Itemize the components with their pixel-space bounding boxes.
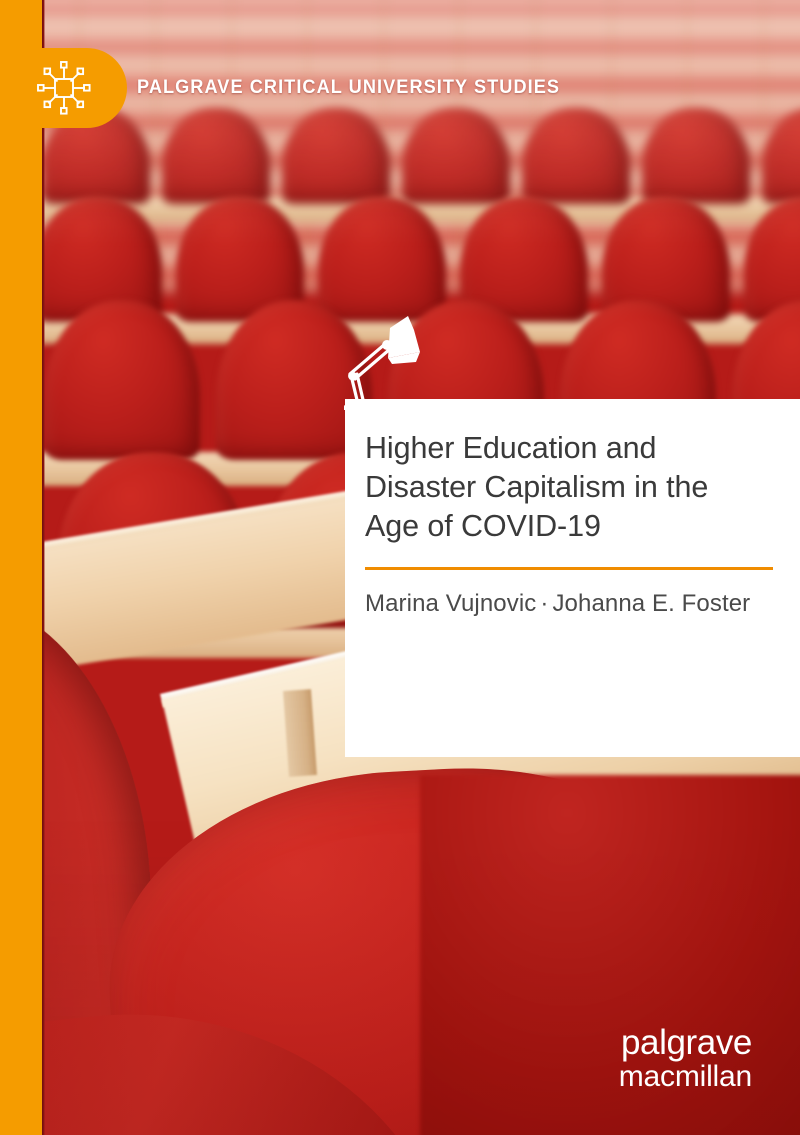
wood-plank-post	[283, 689, 317, 777]
publisher-name-secondary: macmillan	[619, 1061, 752, 1093]
spine-shadow-edge	[42, 0, 45, 1135]
publisher-name-primary: palgrave	[619, 1024, 752, 1061]
book-title-line-2: Disaster Capitalism in the	[365, 468, 754, 507]
book-cover: Higher Education and Disaster Capitalism…	[0, 0, 800, 1135]
page-title: Higher Education and Disaster Capitalism…	[365, 429, 754, 546]
title-panel: Higher Education and Disaster Capitalism…	[345, 399, 800, 757]
author-name-2: Johanna E. Foster	[552, 590, 750, 617]
series-logo-badge	[0, 48, 127, 128]
author-separator: ·	[536, 590, 552, 617]
title-divider-rule	[365, 567, 773, 570]
series-title: PALGRAVE CRITICAL UNIVERSITY STUDIES	[137, 76, 560, 99]
author-line: Marina Vujnovic·Johanna E. Foster	[365, 590, 754, 618]
spine-strip	[0, 0, 42, 1135]
palgrave-critical-university-studies-logo-icon	[33, 57, 95, 119]
publisher-logo: palgrave macmillan	[619, 1024, 752, 1093]
book-title-line-3: Age of COVID-19	[365, 507, 754, 546]
book-title-line-1: Higher Education and	[365, 429, 754, 468]
desk-lamp-icon	[336, 300, 456, 410]
author-name-1: Marina Vujnovic	[365, 590, 536, 617]
